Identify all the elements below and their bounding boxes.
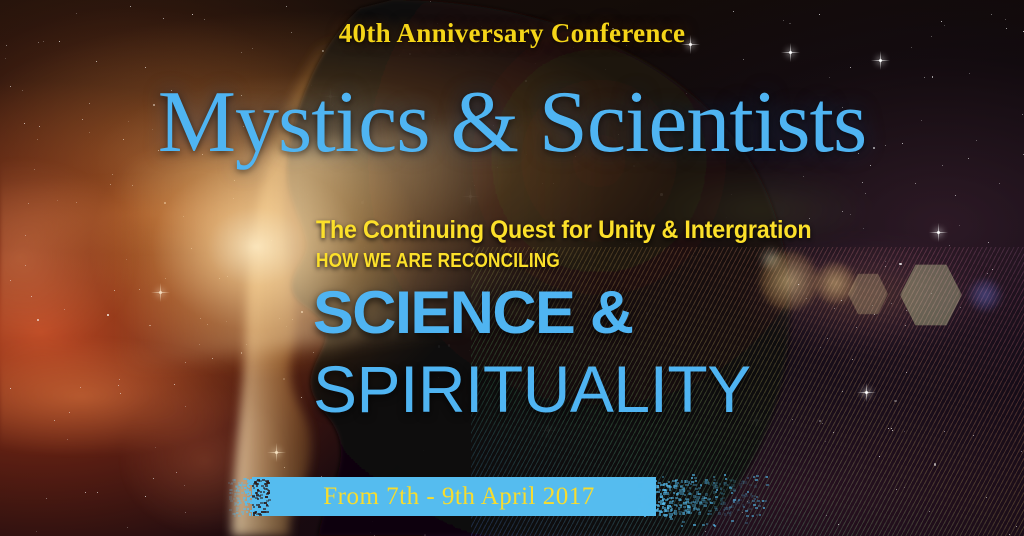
page-title: Mystics & Scientists: [0, 79, 1024, 167]
headline-eyebrow: HOW WE ARE RECONCILING: [316, 250, 560, 273]
headline-spirituality: SPIRITUALITY: [313, 351, 751, 427]
date-banner: From 7th - 9th April 2017: [252, 477, 656, 516]
date-banner-text: From 7th - 9th April 2017: [252, 477, 656, 516]
anniversary-kicker: 40th Anniversary Conference: [0, 18, 1024, 49]
conference-poster: 40th Anniversary Conference Mystics & Sc…: [0, 0, 1024, 536]
conference-subtitle: The Continuing Quest for Unity & Intergr…: [316, 216, 811, 245]
headline-science: SCIENCE &: [313, 278, 632, 347]
